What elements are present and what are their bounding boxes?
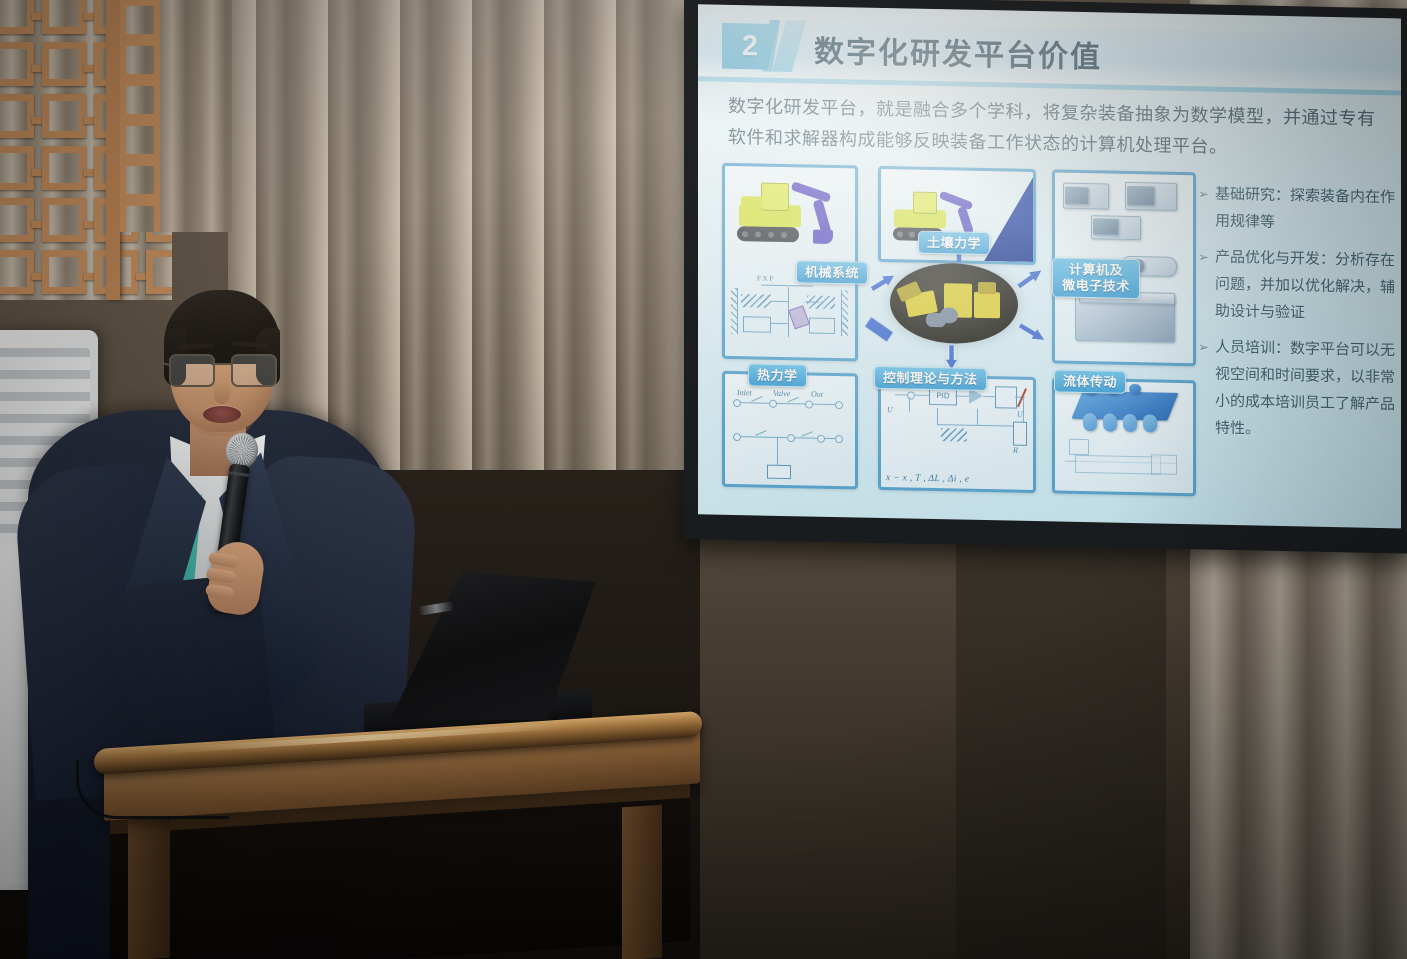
ecu-module [1093, 218, 1119, 236]
bullet-item: ➢ 产品优化与开发：分析存在问题，并加以优化解决，辅助设计与验证 [1198, 243, 1398, 328]
podium-post-right [622, 805, 662, 959]
lattice-frame [106, 0, 120, 300]
microphone-cable [76, 760, 229, 819]
central-excavator-hub [890, 262, 1018, 345]
lattice-element [120, 120, 160, 160]
lattice-element [42, 146, 86, 190]
projection-screen: 2 数字化研发平台价值 数字化研发平台，就是融合多个学科，将复杂装备抽象为数学模… [698, 4, 1401, 528]
bullet-marker-icon: ➢ [1198, 243, 1209, 270]
wooden-lattice-screen-secondary [120, 0, 232, 232]
podium [80, 676, 700, 959]
bullet-marker-icon: ➢ [1198, 333, 1209, 360]
bullet-item: ➢ 基础研究：探索装备内在作用规律等 [1198, 180, 1398, 238]
lattice-element [42, 42, 86, 86]
ecu-module [1065, 187, 1089, 205]
projection-screen-frame: 2 数字化研发平台价值 数字化研发平台，就是融合多个学科，将复杂装备抽象为数学模… [684, 0, 1407, 554]
wall-panel-behind-curtain [956, 538, 1166, 959]
bullet-marker-icon: ➢ [1198, 180, 1209, 207]
lattice-element [42, 0, 86, 34]
panel-control-theory: U U PID [878, 374, 1036, 493]
chip-thermodynamics: 热力学 [748, 363, 807, 387]
lattice-element [120, 0, 160, 40]
panel-fluid-transmission [1052, 377, 1196, 496]
microphone-mesh [227, 434, 257, 467]
excavator-illustration [733, 174, 847, 252]
slide-title: 数字化研发平台价值 [814, 27, 1102, 77]
lens-left [169, 354, 215, 387]
control-formula: x − x , T , ΔL , Δi , e [886, 473, 969, 485]
lattice-element [0, 94, 34, 138]
slide-body-text: 数字化研发平台，就是融合多个学科，将复杂装备抽象为数学模型，并通过专有软件和求解… [728, 91, 1388, 166]
chip-fluid-transmission: 流体传动 [1054, 369, 1126, 393]
lattice-element [120, 40, 160, 80]
chip-control-theory: 控制理论与方法 [874, 366, 987, 391]
arrow-to-control [946, 345, 957, 369]
spring-damper-sketch: F X F [731, 272, 849, 352]
chip-computer-microelectronics: 计算机及 微电子技术 [1052, 257, 1140, 299]
podium-post-left [128, 805, 170, 959]
bullet-text: 基础研究：探索装备内在作用规律等 [1215, 186, 1395, 231]
lattice-element [120, 160, 160, 200]
lattice-element [120, 200, 160, 232]
chip-mechanical-system: 机械系统 [796, 260, 868, 284]
bullet-item: ➢ 人员培训：数字平台可以无视空间和时间要求，以非常小的成本培训员工了解产品特性… [1198, 333, 1398, 445]
lattice-element [42, 94, 86, 138]
lattice-element [0, 146, 34, 190]
lattice-element [120, 80, 160, 120]
signal-label-um: U [1017, 410, 1023, 419]
spring-damper-label: F X F [757, 274, 773, 282]
lens-right [231, 354, 277, 387]
glasses-bridge [211, 363, 231, 365]
lattice-element [0, 42, 34, 86]
bullet-text: 人员培训：数字平台可以无视空间和时间要求，以非常小的成本培训员工了解产品特性。 [1215, 339, 1395, 438]
presentation-photo-scene: 2 数字化研发平台价值 数字化研发平台，就是融合多个学科，将复杂装备抽象为数学模… [0, 0, 1407, 959]
arrow-to-fluid [1017, 321, 1047, 345]
ecu-module [1127, 186, 1155, 207]
signal-label-uref: U [887, 405, 893, 414]
lattice-element [0, 198, 34, 242]
arrow-to-thermo [865, 317, 893, 341]
bullet-text: 产品优化与开发：分析存在问题，并加以优化解决，辅助设计与验证 [1215, 249, 1395, 322]
chip-soil-mechanics: 土壤力学 [918, 231, 990, 255]
lattice-element [0, 0, 34, 34]
slide-diagram: F X F [722, 163, 1190, 502]
nose [214, 380, 230, 404]
lattice-element [42, 198, 86, 242]
panel-thermodynamics: Inlet Valve Out [722, 371, 858, 490]
arrow-to-computer [1015, 266, 1044, 291]
resistor-label: R [1013, 446, 1018, 455]
slide-bullet-list: ➢ 基础研究：探索装备内在作用规律等 ➢ 产品优化与开发：分析存在问题，并加以优… [1198, 180, 1398, 454]
